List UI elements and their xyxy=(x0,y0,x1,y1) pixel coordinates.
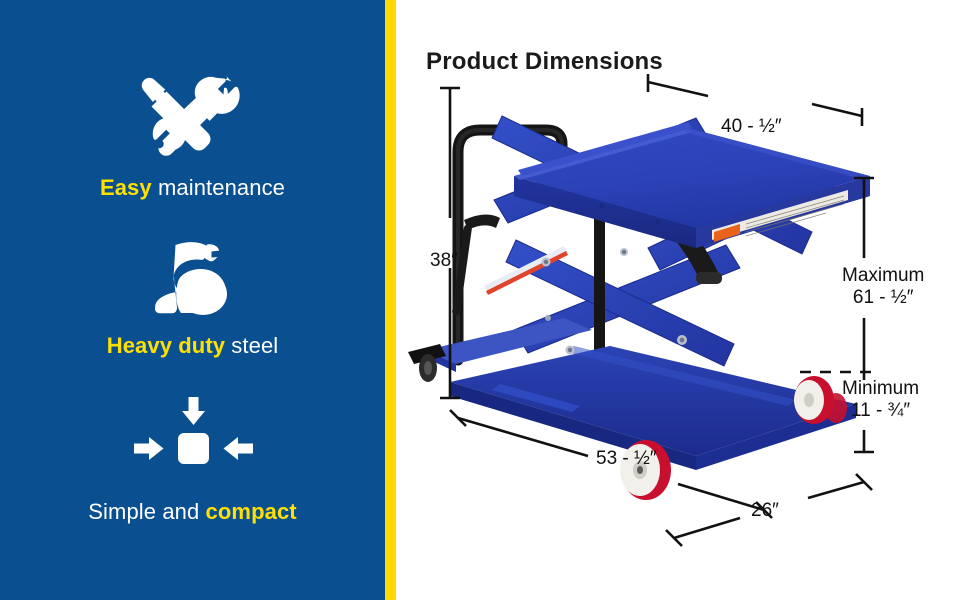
feature-caption-highlight: Easy xyxy=(100,175,152,200)
dimension-label-overall-length: 53 - ½″ xyxy=(596,448,657,470)
dimension-label-maximum-title: Maximum xyxy=(842,265,924,287)
feature-caption: Heavy duty steel xyxy=(107,333,279,359)
dimension-label-height: 38″ xyxy=(430,250,458,272)
feature-easy-maintenance: Easy maintenance xyxy=(0,75,385,201)
dimension-label-maximum-value: 61 - ½″ xyxy=(842,287,924,309)
dimension-label-overall-width: 26″ xyxy=(751,500,779,522)
feature-caption: Easy maintenance xyxy=(100,175,285,201)
dimension-label-maximum-height: Maximum 61 - ½″ xyxy=(842,265,924,309)
feature-caption-highlight: compact xyxy=(206,499,297,524)
dimensions-panel: Product Dimensions xyxy=(396,0,970,600)
feature-simple-and-compact: Simple and compact xyxy=(0,397,385,525)
wrench-screwdriver-icon xyxy=(141,75,245,161)
feature-caption-rest: steel xyxy=(225,333,278,358)
feature-caption-rest: maintenance xyxy=(152,175,285,200)
feature-caption: Simple and compact xyxy=(88,499,296,525)
compact-arrows-icon xyxy=(120,397,266,485)
infographic-canvas: Easy maintenance xyxy=(0,0,970,600)
feature-caption-highlight: Heavy duty xyxy=(107,333,225,358)
features-panel: Easy maintenance xyxy=(0,0,385,600)
dimension-label-minimum-title: Minimum xyxy=(842,378,919,400)
feature-caption-rest: Simple and xyxy=(88,499,205,524)
feature-heavy-duty-steel: Heavy duty steel xyxy=(0,239,385,359)
flexed-bicep-icon xyxy=(145,239,241,319)
dimension-label-minimum-height: Minimum 11 - ¾″ xyxy=(842,378,919,422)
accent-stripe-divider xyxy=(385,0,396,600)
dimension-label-platform-length: 40 - ½″ xyxy=(721,116,782,138)
dimension-label-minimum-value: 11 - ¾″ xyxy=(842,400,919,422)
